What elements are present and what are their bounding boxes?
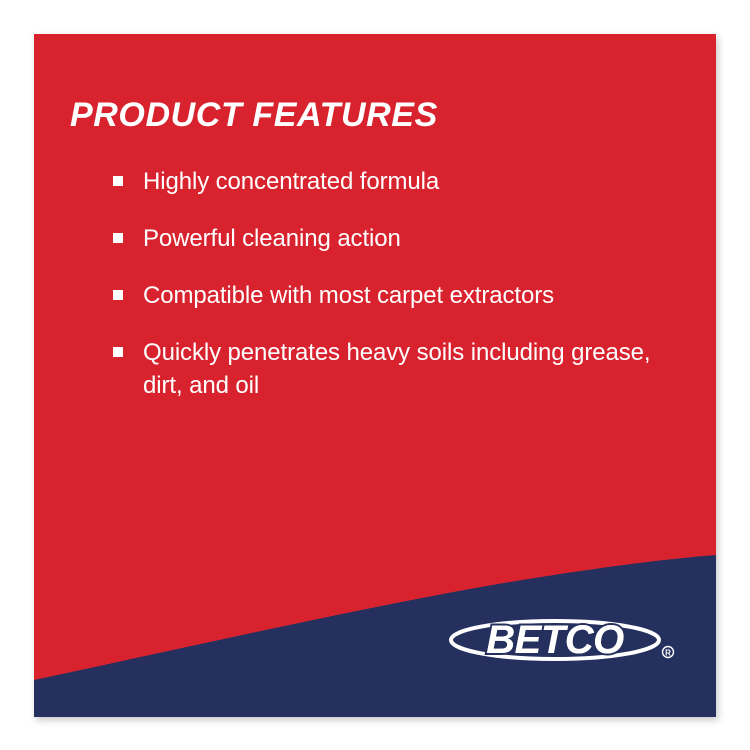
list-item: Quickly penetrates heavy soils including… [111, 336, 681, 402]
square-bullet-icon [113, 290, 123, 300]
list-item: Compatible with most carpet extractors [111, 279, 681, 312]
square-bullet-icon [113, 233, 123, 243]
list-item: Powerful cleaning action [111, 222, 681, 255]
list-item: Highly concentrated formula [111, 165, 681, 198]
svg-text:BETCO: BETCO [486, 618, 624, 662]
product-features-card: PRODUCT FEATURES Highly concentrated for… [34, 34, 716, 717]
page-title: PRODUCT FEATURES [70, 98, 438, 132]
square-bullet-icon [113, 176, 123, 186]
betco-oval-logo-icon: BETCO BETCO R [445, 612, 680, 667]
square-bullet-icon [113, 347, 123, 357]
screenshot-stage: PRODUCT FEATURES Highly concentrated for… [0, 0, 750, 750]
betco-logo: BETCO BETCO R [445, 612, 680, 667]
list-item-label: Compatible with most carpet extractors [143, 279, 681, 312]
list-item-label: Quickly penetrates heavy soils including… [143, 336, 681, 402]
feature-list: Highly concentrated formula Powerful cle… [111, 165, 681, 402]
list-item-label: Highly concentrated formula [143, 165, 681, 198]
list-item-label: Powerful cleaning action [143, 222, 681, 255]
svg-text:R: R [665, 649, 671, 658]
